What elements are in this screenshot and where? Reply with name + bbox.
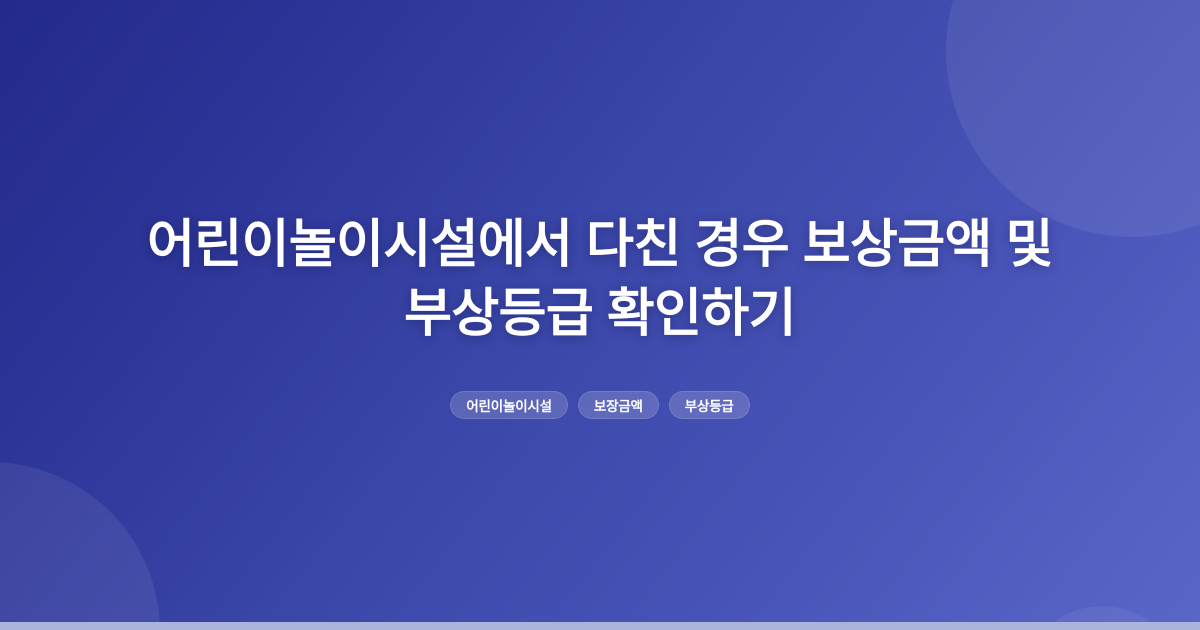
tag-chip[interactable]: 어린이놀이시설 (450, 391, 568, 419)
card-content: 어린이놀이시설에서 다친 경우 보상금액 및 부상등급 확인하기 어린이놀이시설… (0, 0, 1200, 630)
tag-chip[interactable]: 보장금액 (578, 391, 659, 419)
og-card: 어린이놀이시설에서 다친 경우 보상금액 및 부상등급 확인하기 어린이놀이시설… (0, 0, 1200, 630)
bottom-accent-strip (0, 622, 1200, 630)
tag-chip[interactable]: 부상등급 (669, 391, 750, 419)
page-title: 어린이놀이시설에서 다친 경우 보상금액 및 부상등급 확인하기 (120, 211, 1080, 348)
tag-list: 어린이놀이시설 보장금액 부상등급 (450, 391, 749, 419)
